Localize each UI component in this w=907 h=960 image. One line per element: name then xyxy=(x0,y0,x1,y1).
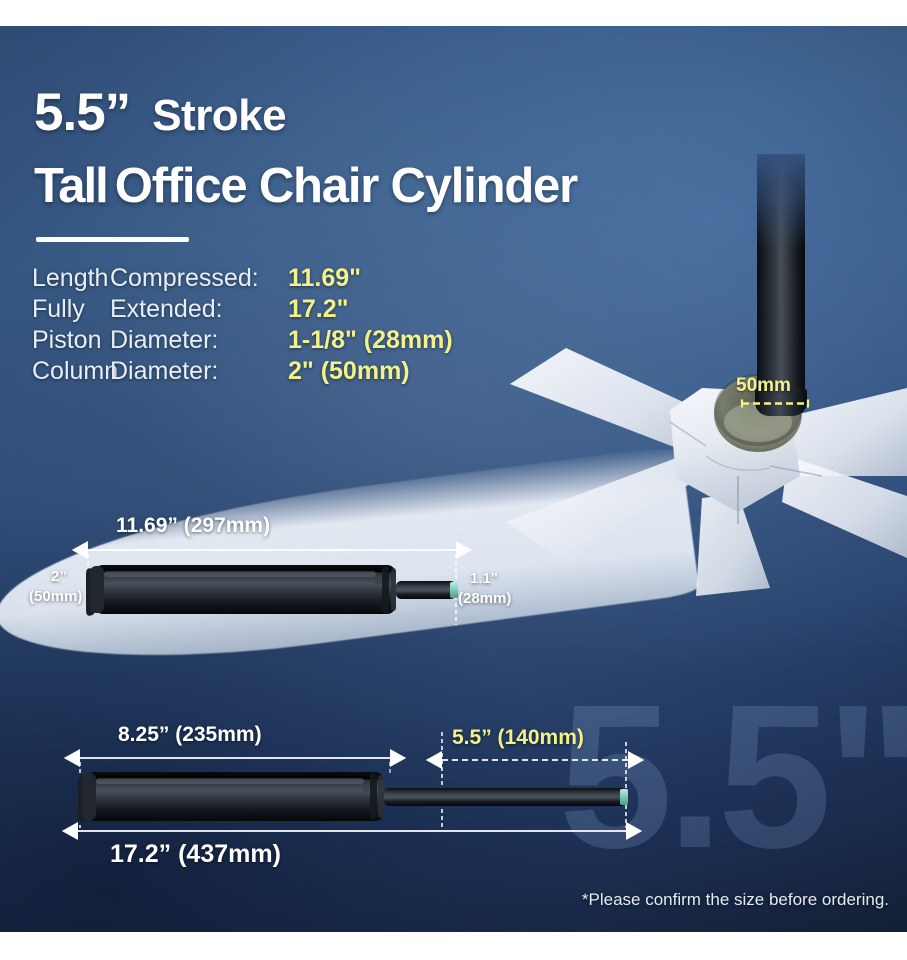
spec-row: Fully Extended: 17.2" xyxy=(32,295,453,326)
spec-row: Length Compressed: 11.69" xyxy=(32,264,453,295)
chair-column-top-fade xyxy=(757,154,805,250)
chair-base-blade-left xyxy=(0,445,700,685)
spec-value: 1-1/8" (28mm) xyxy=(288,326,453,355)
column-diameter-label-line2: (50mm) xyxy=(29,588,82,605)
spec-value: 11.69" xyxy=(288,264,361,293)
spec-value: 2" (50mm) xyxy=(288,357,410,386)
extended-body-length-label: 8.25” (235mm) xyxy=(118,723,262,747)
background-watermark-text: 5.5" xyxy=(559,674,907,879)
spec-label-b: Compressed: xyxy=(110,264,288,293)
base-hole-dimension-line xyxy=(740,399,810,408)
size-disclaimer-footnote: *Please confirm the size before ordering… xyxy=(582,890,889,910)
spec-label-b: Diameter: xyxy=(110,326,288,355)
headline-line-1: 5.5”Stroke xyxy=(34,82,286,143)
base-hole-50mm-label: 50mm xyxy=(736,375,791,397)
headline-product-name: Office Chair Cylinder xyxy=(115,159,577,213)
spec-row: Column Diameter: 2" (50mm) xyxy=(32,357,453,388)
headline-stroke-size: 5.5” xyxy=(34,83,130,142)
piston-diameter-label-line2: (28mm) xyxy=(458,590,511,607)
spec-value: 17.2" xyxy=(288,295,349,324)
extended-total-length-label: 17.2” (437mm) xyxy=(110,840,281,869)
headline-stroke-word: Stroke xyxy=(152,91,286,140)
spec-label-b: Extended: xyxy=(110,295,288,324)
spec-label-a: Piston xyxy=(32,326,110,355)
spec-label-a: Column xyxy=(32,357,110,386)
chair-base-illustration xyxy=(470,326,907,596)
column-diameter-label-line1: 2” xyxy=(51,568,67,585)
chair-base-star-svg xyxy=(470,326,907,596)
piston-diameter-label-line1: 1.1" xyxy=(470,570,498,587)
headline-line-2: TallOffice Chair Cylinder xyxy=(34,158,577,214)
headline-tall-word: Tall xyxy=(34,159,107,213)
infographic-canvas: 5.5" xyxy=(0,0,907,960)
compressed-length-label: 11.69” (297mm) xyxy=(116,514,270,538)
spec-label-a: Fully xyxy=(32,295,110,324)
spec-label-a: Length xyxy=(32,264,110,293)
headline-underline-rule xyxy=(36,237,189,242)
stroke-length-label: 5.5” (140mm) xyxy=(452,726,584,750)
specification-list: Length Compressed: 11.69" Fully Extended… xyxy=(32,264,453,388)
spec-row: Piston Diameter: 1-1/8" (28mm) xyxy=(32,326,453,357)
spec-label-b: Diameter: xyxy=(110,357,288,386)
